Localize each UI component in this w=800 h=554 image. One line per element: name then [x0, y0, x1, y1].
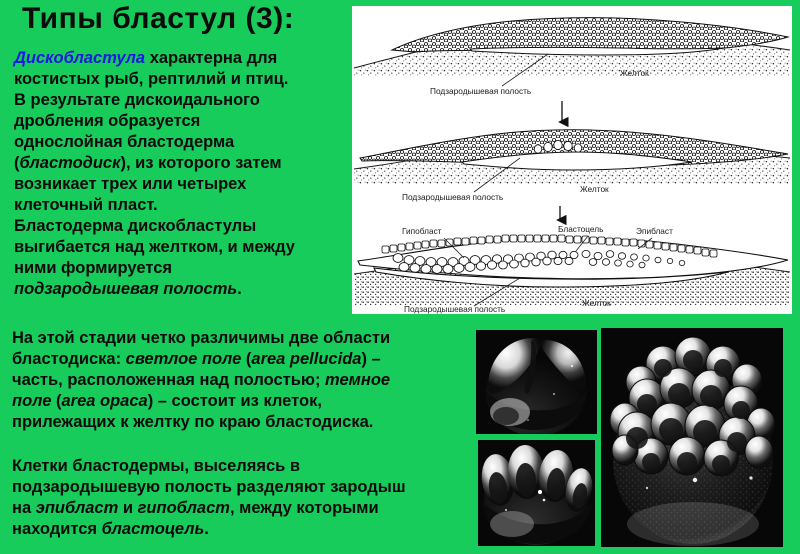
text-line: Дискобластула характерна для: [14, 48, 295, 69]
text-run: ), из которого затем: [120, 154, 281, 172]
diagram-label-yolk-3: Желток: [582, 298, 611, 308]
term-emphasis: гипобласт: [138, 499, 230, 517]
text-line: бластодиска: светлое поле (area pellucid…: [12, 349, 390, 370]
text-run: подзародышевую полость разделяют зародыш: [12, 478, 406, 496]
diagram-stage-1: Подзародышевая полость Желток: [354, 18, 790, 96]
diagram-svg: Подзародышевая полость Желток: [352, 6, 792, 314]
diagram-label-hypoblast: Гипобласт: [402, 226, 442, 236]
text-run: возникает трех или четырех: [14, 175, 246, 193]
term-emphasis: темное: [325, 371, 390, 389]
text-run: ) – состоит из клеток,: [148, 392, 322, 410]
photo-embryo-four-cell: [478, 440, 595, 546]
text-line: костистых рыб, рептилий и птиц.: [14, 69, 295, 90]
term-emphasis: бластоцель: [102, 520, 205, 538]
text-run: выгибается над желтком, и между: [14, 238, 295, 256]
text-line: возникает трех или четырех: [14, 174, 295, 195]
text-line: клеточный пласт.: [14, 195, 295, 216]
text-run: .: [237, 280, 242, 298]
term-emphasis: area opaca: [61, 392, 147, 410]
paragraph-epiblast-hypoblast: Клетки бластодермы, выселяясь вподзароды…: [12, 456, 406, 540]
text-run: (: [51, 392, 61, 410]
term-emphasis: светлое поле: [126, 350, 242, 368]
text-run: часть, расположенная над полостью;: [12, 371, 325, 389]
text-run: , между которыми: [230, 499, 379, 517]
text-line: (бластодиск), из которого затем: [14, 153, 295, 174]
diagram-stage-3: Гипобласт Бластоцель Эпибласт Подзародыш…: [354, 224, 790, 314]
text-line: на эпибласт и гипобласт, между которыми: [12, 498, 406, 519]
text-line: поле (area opaca) – состоит из клеток,: [12, 391, 390, 412]
text-line: подзародышевая полость.: [14, 279, 295, 300]
paragraph-area-pellucida-opaca: На этой стадии четко различимы две облас…: [12, 328, 390, 433]
text-run: ними формируется: [14, 259, 172, 277]
text-run: На этой стадии четко различимы две облас…: [12, 329, 390, 347]
text-line: выгибается над желтком, и между: [14, 237, 295, 258]
text-line: часть, расположенная над полостью; темно…: [12, 370, 390, 391]
page-title: Типы бластул (3):: [22, 2, 294, 36]
diagram-stage-2: Подзародышевая полость Желток: [354, 130, 790, 202]
term-emphasis: бластодиск: [20, 154, 121, 172]
text-run: (: [241, 350, 251, 368]
term-emphasis: подзародышевая полость: [14, 280, 237, 298]
term-emphasis: Дискобластула: [14, 49, 145, 67]
text-line: находится бластоцель.: [12, 519, 406, 540]
text-run: клеточный пласт.: [14, 196, 158, 214]
photo-embryo-morula: [601, 328, 783, 547]
term-emphasis: поле: [12, 392, 51, 410]
text-line: подзародышевую полость разделяют зародыш: [12, 477, 406, 498]
text-line: Клетки бластодермы, выселяясь в: [12, 456, 406, 477]
text-run: Бластодерма дискобластулы: [14, 217, 256, 235]
text-run: ) –: [361, 350, 380, 368]
text-run: Клетки бластодермы, выселяясь в: [12, 457, 300, 475]
text-line: На этой стадии четко различимы две облас…: [12, 328, 390, 349]
text-run: костистых рыб, рептилий и птиц.: [14, 70, 288, 88]
diagram-label-blastocoel: Бластоцель: [558, 224, 603, 234]
text-run: однослойная бластодерма: [14, 133, 234, 151]
text-line: В результате дискоидального: [14, 90, 295, 111]
text-line: дробления образуется: [14, 111, 295, 132]
paragraph-discoblastula: Дискобластула характерна длякостистых ры…: [14, 48, 295, 300]
diagram-label-subgerminal-cavity-1: Подзародышевая полость: [430, 86, 531, 96]
text-run: на: [12, 499, 36, 517]
photo-embryo-two-cell: [476, 330, 597, 434]
diagram-label-subgerminal-cavity-2: Подзародышевая полость: [402, 192, 503, 202]
term-emphasis: area pellucida: [251, 350, 361, 368]
text-run: прилежащих к желтку по краю бластодиска.: [12, 413, 373, 431]
diagram-label-yolk-2: Желток: [580, 184, 609, 194]
diagram-label-epiblast: Эпибласт: [636, 226, 673, 236]
text-run: В результате дискоидального: [14, 91, 260, 109]
diagram-label-yolk-1: Желток: [620, 68, 649, 78]
text-line: однослойная бластодерма: [14, 132, 295, 153]
text-run: находится: [12, 520, 102, 538]
diagram-panel-blastula-stages: Подзародышевая полость Желток: [352, 6, 792, 314]
text-run: и: [118, 499, 137, 517]
text-line: ними формируется: [14, 258, 295, 279]
text-line: прилежащих к желтку по краю бластодиска.: [12, 412, 390, 433]
text-line: Бластодерма дискобластулы: [14, 216, 295, 237]
term-emphasis: эпибласт: [36, 499, 119, 517]
slide-root: Типы бластул (3): Дискобластула характер…: [0, 0, 800, 554]
text-run: дробления образуется: [14, 112, 200, 130]
diagram-label-subgerminal-cavity-3: Подзародышевая полость: [404, 304, 505, 314]
text-run: бластодиска:: [12, 350, 126, 368]
text-run: .: [204, 520, 209, 538]
text-run: характерна для: [145, 49, 277, 67]
